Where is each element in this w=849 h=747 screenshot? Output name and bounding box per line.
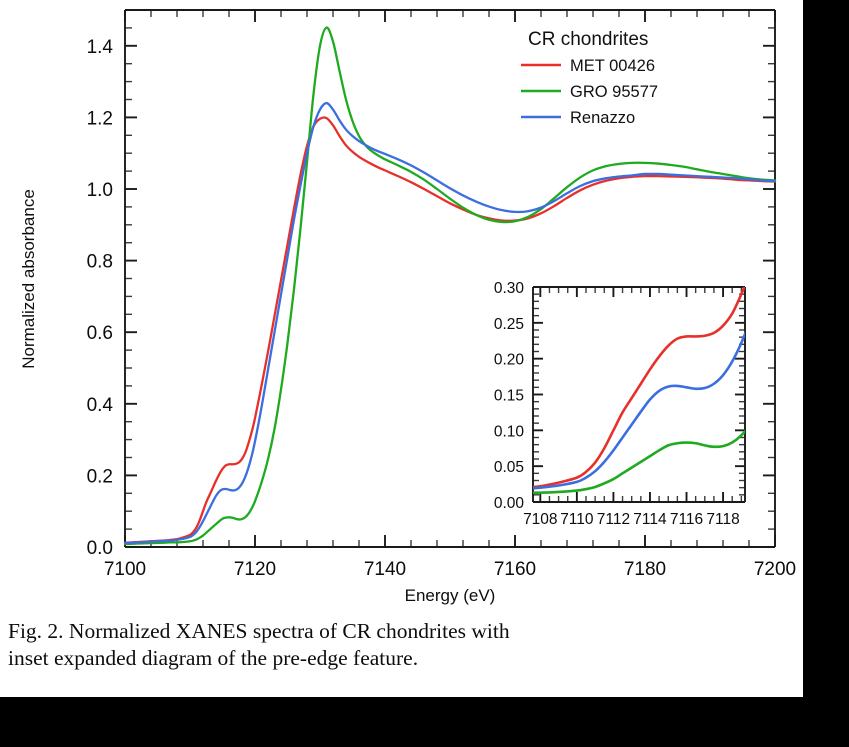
x-tick-label: 7200 <box>754 559 796 580</box>
inset-x-tick-label: 7118 <box>706 511 739 528</box>
inset-y-tick-label: 0.30 <box>494 280 525 297</box>
y-tick-label: 0.4 <box>87 395 114 416</box>
x-axis-title: Energy (eV) <box>405 586 496 605</box>
x-tick-label: 7180 <box>624 559 666 580</box>
x-tick-label: 7140 <box>364 559 406 580</box>
x-tick-label: 7100 <box>104 559 146 580</box>
figure-page: 7100712071407160718072000.00.20.40.60.81… <box>0 0 803 697</box>
y-axis-title: Normalized absorbance <box>19 189 38 369</box>
inset-y-tick-label: 0.25 <box>494 316 524 333</box>
y-tick-label: 0.0 <box>87 538 113 559</box>
y-tick-label: 0.8 <box>87 252 113 273</box>
inset-y-tick-label: 0.05 <box>494 459 524 476</box>
inset-x-tick-label: 7114 <box>633 511 667 528</box>
y-tick-label: 0.6 <box>87 323 113 344</box>
y-tick-label: 0.2 <box>87 466 113 487</box>
inset-y-tick-label: 0.00 <box>494 495 525 512</box>
caption-line-2: inset expanded diagram of the pre-edge f… <box>8 645 798 672</box>
y-tick-label: 1.0 <box>87 180 113 201</box>
inset-x-tick-label: 7110 <box>560 511 594 528</box>
xanes-plot-svg: 7100712071407160718072000.00.20.40.60.81… <box>0 0 803 610</box>
inset-y-tick-label: 0.15 <box>494 388 524 405</box>
y-tick-label: 1.2 <box>87 108 113 129</box>
x-tick-label: 7120 <box>234 559 276 580</box>
caption-line-1: Fig. 2. Normalized XANES spectra of CR c… <box>8 618 798 645</box>
inset-y-tick-label: 0.20 <box>494 352 525 369</box>
inset-x-tick-label: 7112 <box>597 511 630 528</box>
legend-label: Renazzo <box>570 109 635 127</box>
inset-plot: 7108711071127114711671180.000.050.100.15… <box>463 244 760 528</box>
inset-x-tick-label: 7116 <box>670 511 703 528</box>
y-tick-label: 1.4 <box>87 37 114 58</box>
xanes-figure: 7100712071407160718072000.00.20.40.60.81… <box>0 0 803 610</box>
x-tick-label: 7160 <box>494 559 536 580</box>
inset-x-tick-label: 7108 <box>523 511 557 528</box>
inset-y-tick-label: 0.10 <box>494 423 525 440</box>
legend-title: CR chondrites <box>528 29 648 50</box>
figure-caption: Fig. 2. Normalized XANES spectra of CR c… <box>8 618 798 672</box>
legend-label: GRO 95577 <box>570 83 658 101</box>
legend-label: MET 00426 <box>570 57 655 75</box>
